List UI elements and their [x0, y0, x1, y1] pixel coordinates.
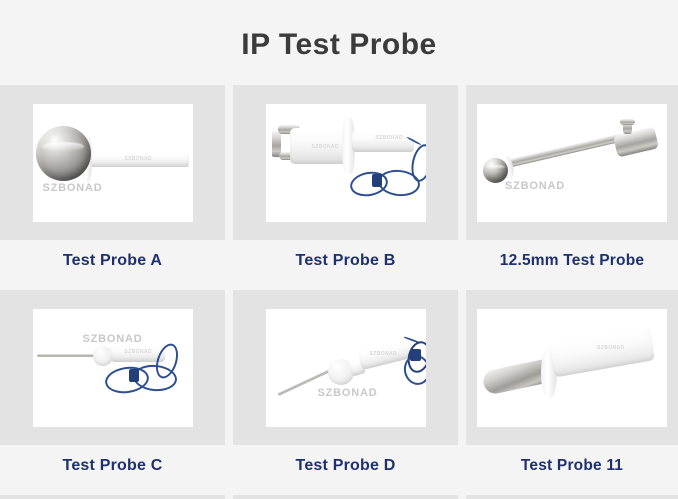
product-photo-panel: SZBONAD SZBONAD: [0, 85, 225, 240]
product-caption: Test Probe 11: [466, 445, 678, 487]
product-photo-panel: [0, 495, 225, 499]
sphere-highlight: [42, 142, 84, 151]
probe-wire: [37, 354, 99, 357]
product-photo-panel: [233, 495, 458, 499]
product-caption: 12.5mm Test Probe: [466, 240, 678, 282]
product-photo-panel: SZBONAD: [466, 85, 678, 240]
probe-handle: [352, 131, 414, 152]
product-card-test-probe-11[interactable]: SZBONAD Test Probe 11: [466, 290, 678, 487]
product-image-rod-ball-probe[interactable]: SZBONAD: [477, 104, 667, 222]
product-card-test-probe-c[interactable]: SZBONAD SZBONAD Test Probe C: [0, 290, 225, 487]
product-card-12-5mm-test-probe[interactable]: SZBONAD 12.5mm Test Probe: [466, 85, 678, 282]
finger-body: [290, 128, 348, 164]
product-photo-panel: SZBONAD SZBONAD: [233, 290, 458, 445]
product-label-12-5mm-test-probe: 12.5mm Test Probe: [500, 252, 644, 270]
product-caption: Test Probe D: [233, 445, 458, 487]
product-label-test-probe-c: Test Probe C: [63, 457, 163, 475]
cable-knot: [372, 174, 382, 187]
cable-knot: [410, 349, 421, 361]
stop-face-cylinder: [613, 126, 659, 157]
product-card-next-row-1[interactable]: [0, 495, 225, 499]
product-photo-panel: [466, 495, 678, 499]
image-watermark: SZBONAD: [318, 387, 378, 399]
image-watermark: SZBONAD: [505, 180, 565, 192]
product-label-test-probe-a: Test Probe A: [63, 252, 162, 270]
product-image-jointed-finger-probe[interactable]: SZBONAD SZBONAD: [266, 104, 426, 222]
product-image-cone-tip-probe[interactable]: SZBONAD: [477, 309, 667, 427]
product-card-test-probe-b[interactable]: SZBONAD SZBONAD Test Probe B: [233, 85, 458, 282]
cable-knot: [129, 369, 139, 382]
probe-ball-tip: [483, 158, 508, 183]
product-caption: Test Probe B: [233, 240, 458, 282]
product-card-next-row-3[interactable]: [466, 495, 678, 499]
product-listing-page: IP Test Probe SZBONAD SZBONAD: [0, 0, 678, 499]
product-label-test-probe-11: Test Probe 11: [521, 457, 623, 475]
page-header: IP Test Probe: [0, 0, 678, 85]
product-card-test-probe-d[interactable]: SZBONAD SZBONAD Test Probe D: [233, 290, 458, 487]
product-card-next-row-2[interactable]: [233, 495, 458, 499]
image-watermark: SZBONAD: [83, 333, 143, 345]
probe-stop-ball: [93, 346, 113, 366]
probe-handle: [89, 152, 189, 167]
probe-handle: [549, 326, 655, 377]
thumbscrew-head: [620, 119, 635, 125]
probe-sphere: [36, 126, 91, 181]
product-photo-panel: SZBONAD: [466, 290, 678, 445]
product-label-test-probe-b: Test Probe B: [296, 252, 396, 270]
product-card-test-probe-a[interactable]: SZBONAD SZBONAD Test Probe A: [0, 85, 225, 282]
product-image-needle-probe[interactable]: SZBONAD SZBONAD: [266, 309, 426, 427]
sphere-highlight: [486, 165, 505, 169]
image-watermark: SZBONAD: [43, 182, 103, 194]
product-caption: Test Probe A: [0, 240, 225, 282]
page-title: IP Test Probe: [241, 30, 436, 60]
probe-rod: [506, 133, 623, 167]
product-caption: Test Probe C: [0, 445, 225, 487]
product-image-sphere-probe[interactable]: SZBONAD SZBONAD: [33, 104, 193, 222]
product-label-test-probe-d: Test Probe D: [296, 457, 396, 475]
product-grid: SZBONAD SZBONAD Test Probe A: [0, 85, 678, 499]
product-photo-panel: SZBONAD SZBONAD: [0, 290, 225, 445]
product-photo-panel: SZBONAD SZBONAD: [233, 85, 458, 240]
product-image-thin-rod-probe[interactable]: SZBONAD SZBONAD: [33, 309, 193, 427]
